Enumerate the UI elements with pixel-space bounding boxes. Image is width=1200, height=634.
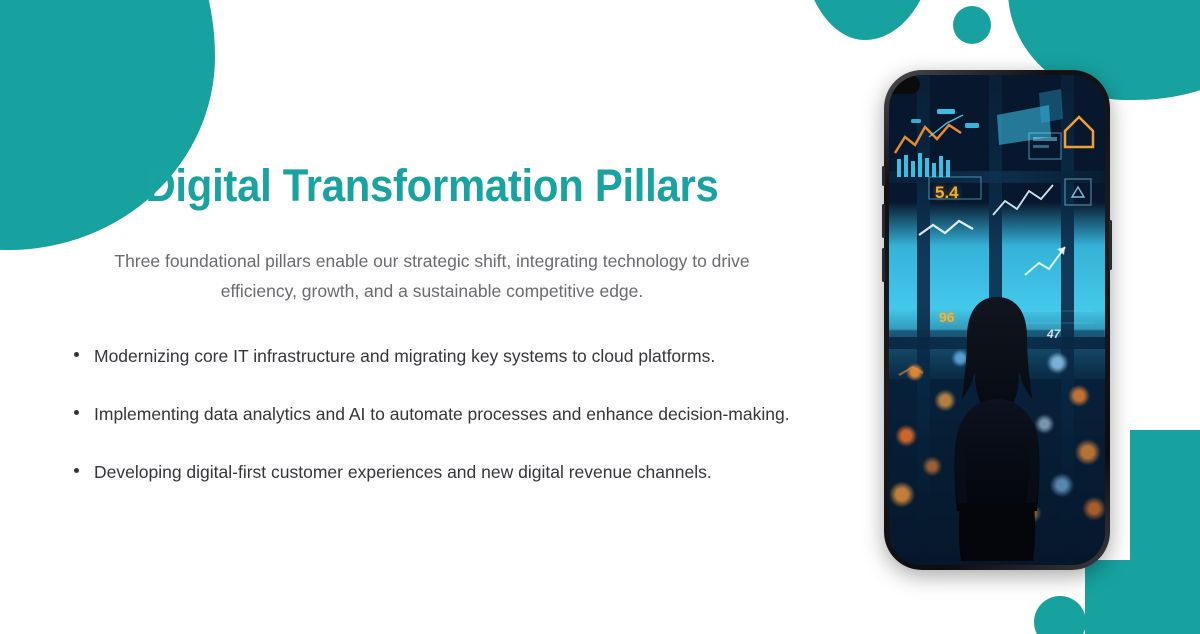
list-item: Developing digital-first customer experi…: [62, 457, 802, 488]
phone-power-button: [1109, 220, 1112, 270]
slide-subtitle: Three foundational pillars enable our st…: [62, 246, 802, 307]
page-title: Digital Transformation Pillars: [88, 160, 776, 212]
slide-canvas: Digital Transformation Pillars Three fou…: [0, 0, 1200, 634]
phone-mockup: 5.4 96 47: [884, 70, 1110, 570]
phone-volume-up-button: [882, 204, 885, 238]
phone-screen: 5.4 96 47: [889, 75, 1105, 565]
list-item-text: Implementing data analytics and AI to au…: [94, 404, 790, 424]
circle-bottom-white-cutout: [956, 592, 1074, 634]
list-item-text: Developing digital-first customer experi…: [94, 462, 712, 482]
dynamic-island: [889, 75, 920, 94]
bullet-dot-icon: [74, 410, 79, 415]
circle-topleft-small-decoration: [146, 77, 203, 134]
block-bottomright-decoration: [1130, 430, 1200, 634]
content-column: Digital Transformation Pillars Three fou…: [62, 160, 802, 488]
bullet-dot-icon: [74, 468, 79, 473]
list-item-text: Modernizing core IT infrastructure and m…: [94, 346, 715, 366]
person-silhouette: [938, 295, 1056, 565]
circle-bottom-teal-decoration: [1034, 596, 1086, 634]
bullet-list: Modernizing core IT infrastructure and m…: [62, 341, 802, 488]
bullet-dot-icon: [74, 352, 79, 357]
phone-silent-switch: [882, 166, 885, 186]
circle-top-mid-decoration: [953, 6, 991, 44]
list-item: Modernizing core IT infrastructure and m…: [62, 341, 802, 372]
list-item: Implementing data analytics and AI to au…: [62, 399, 802, 430]
blob-top-mid-decoration: [800, 0, 936, 40]
block-bottomright-secondary-decoration: [1085, 560, 1200, 634]
hud-metric-1: 5.4: [935, 183, 959, 203]
circle-left-edge-decoration: [0, 138, 38, 228]
phone-volume-down-button: [882, 248, 885, 282]
